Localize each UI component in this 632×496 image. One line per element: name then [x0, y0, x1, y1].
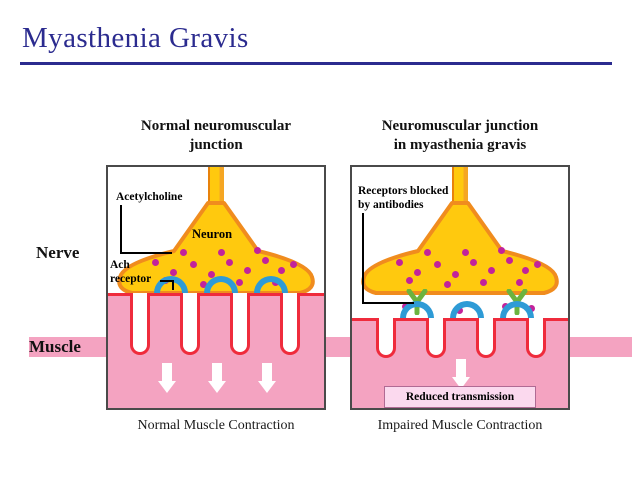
vesicle — [522, 267, 529, 274]
muscle-fold — [180, 293, 200, 355]
vesicle — [480, 279, 487, 286]
vesicle — [534, 261, 541, 268]
caption-impaired: Impaired Muscle Contraction — [340, 418, 580, 434]
panel-heading-normal-line2: junction — [106, 136, 326, 155]
vesicle — [424, 249, 431, 256]
ach-receptor-callout-label: Ach receptor — [110, 259, 151, 287]
vesicle — [470, 259, 477, 266]
receptors-blocked-leader-vertical — [362, 213, 364, 303]
caption-normal: Normal Muscle Contraction — [96, 418, 336, 434]
vesicle — [434, 261, 441, 268]
title-underline-rule — [20, 62, 612, 65]
vesicle — [444, 281, 451, 288]
page-title: Myasthenia Gravis — [22, 22, 249, 55]
ach-receptor-label-line2: receptor — [110, 273, 151, 287]
receptors-blocked-leader-horizontal — [362, 302, 414, 304]
vesicle — [516, 279, 523, 286]
panel-heading-normal: Normal neuromuscular junction — [106, 117, 326, 155]
panel-heading-myasthenia: Neuromuscular junction in myasthenia gra… — [350, 117, 570, 155]
panel-heading-myasthenia-line1: Neuromuscular junction — [350, 117, 570, 136]
receptors-blocked-line2: by antibodies — [358, 199, 448, 213]
muscle-fold — [230, 293, 250, 355]
neuron-label: Neuron — [192, 227, 232, 242]
vesicle — [406, 277, 413, 284]
ach-receptor-label-line1: Ach — [110, 259, 151, 273]
vesicle — [452, 271, 459, 278]
vesicle — [244, 267, 251, 274]
vesicle — [152, 259, 159, 266]
vesicle — [190, 261, 197, 268]
vesicle — [226, 259, 233, 266]
vesicle — [462, 249, 469, 256]
vesicle — [180, 249, 187, 256]
contraction-arrow-icon — [258, 363, 276, 393]
vesicle — [254, 247, 261, 254]
acetylcholine-leader-vertical — [120, 205, 122, 253]
muscle-fold — [376, 318, 396, 358]
muscle-fold — [426, 318, 446, 358]
diagram-panel-myasthenia: Reduced transmission Receptors blocked b… — [350, 165, 570, 410]
reduced-transmission-badge: Reduced transmission — [384, 386, 536, 408]
muscle-fold — [280, 293, 300, 355]
vesicle — [218, 249, 225, 256]
row-label-nerve: Nerve — [36, 243, 79, 263]
acetylcholine-callout-label: Acetylcholine — [116, 191, 182, 205]
vesicle — [236, 279, 243, 286]
vesicle — [262, 257, 269, 264]
vesicle — [170, 269, 177, 276]
muscle-fold — [476, 318, 496, 358]
vesicle — [488, 267, 495, 274]
contraction-arrow-icon — [158, 363, 176, 393]
vesicle — [278, 267, 285, 274]
vesicle — [506, 257, 513, 264]
ach-receptor-leader-vertical — [172, 280, 174, 290]
receptors-blocked-callout-label: Receptors blocked by antibodies — [358, 185, 448, 213]
vesicle — [396, 259, 403, 266]
receptors-blocked-line1: Receptors blocked — [358, 185, 448, 199]
vesicle — [414, 269, 421, 276]
diagram-panel-normal: Neuron Acetylcholine Ach — [106, 165, 326, 410]
muscle-fold — [130, 293, 150, 355]
contraction-arrow-icon — [452, 359, 470, 389]
panel-heading-myasthenia-line2: in myasthenia gravis — [350, 136, 570, 155]
vesicle — [290, 261, 297, 268]
vesicle — [498, 247, 505, 254]
muscle-fold — [526, 318, 546, 358]
contraction-arrow-icon — [208, 363, 226, 393]
acetylcholine-leader-horizontal — [120, 252, 172, 254]
panel-heading-normal-line1: Normal neuromuscular — [106, 117, 326, 136]
